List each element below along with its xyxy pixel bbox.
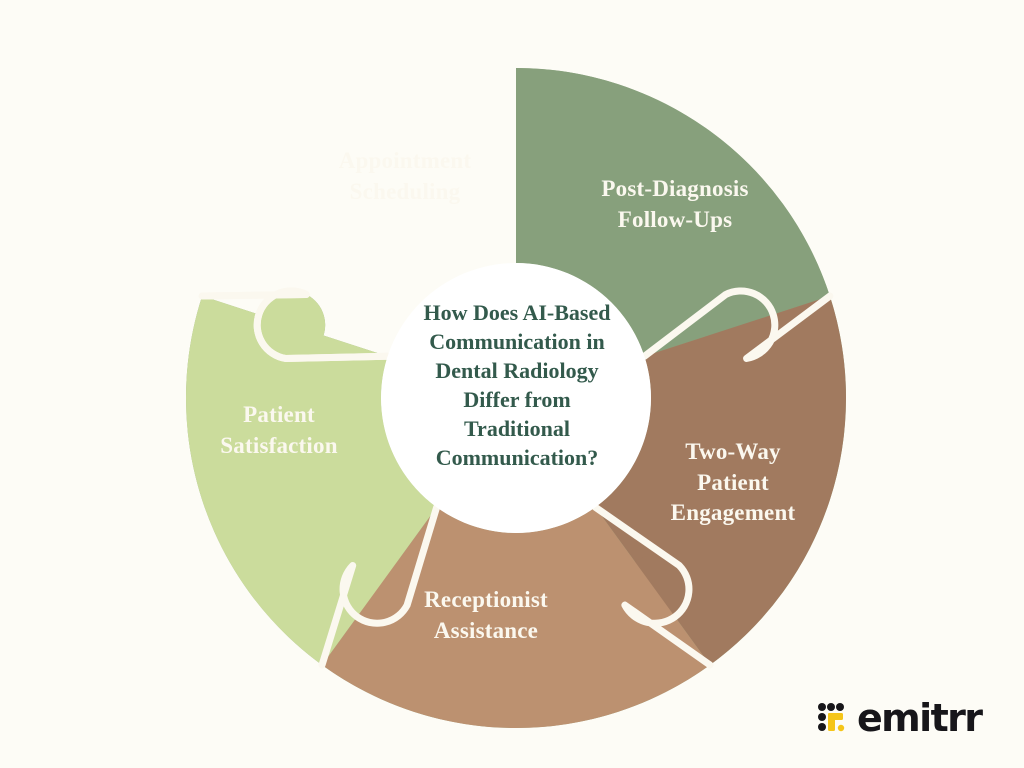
infographic-canvas: Appointment Scheduling Post-Diagnosis Fo… <box>0 0 1024 768</box>
logo-dot <box>818 713 826 721</box>
logo-dot <box>818 723 826 731</box>
center-hub <box>381 263 651 533</box>
logo-dot <box>818 703 826 711</box>
logo-dot <box>836 703 844 711</box>
emitrr-dot-mark <box>818 702 848 734</box>
brand-logo: emitrr <box>818 696 981 740</box>
puzzle-wheel-diagram <box>0 0 1024 768</box>
brand-wordmark: emitrr <box>857 699 981 737</box>
logo-dot <box>827 703 835 711</box>
logo-accent-dot <box>838 725 844 731</box>
logo-accent-arm <box>828 713 843 720</box>
